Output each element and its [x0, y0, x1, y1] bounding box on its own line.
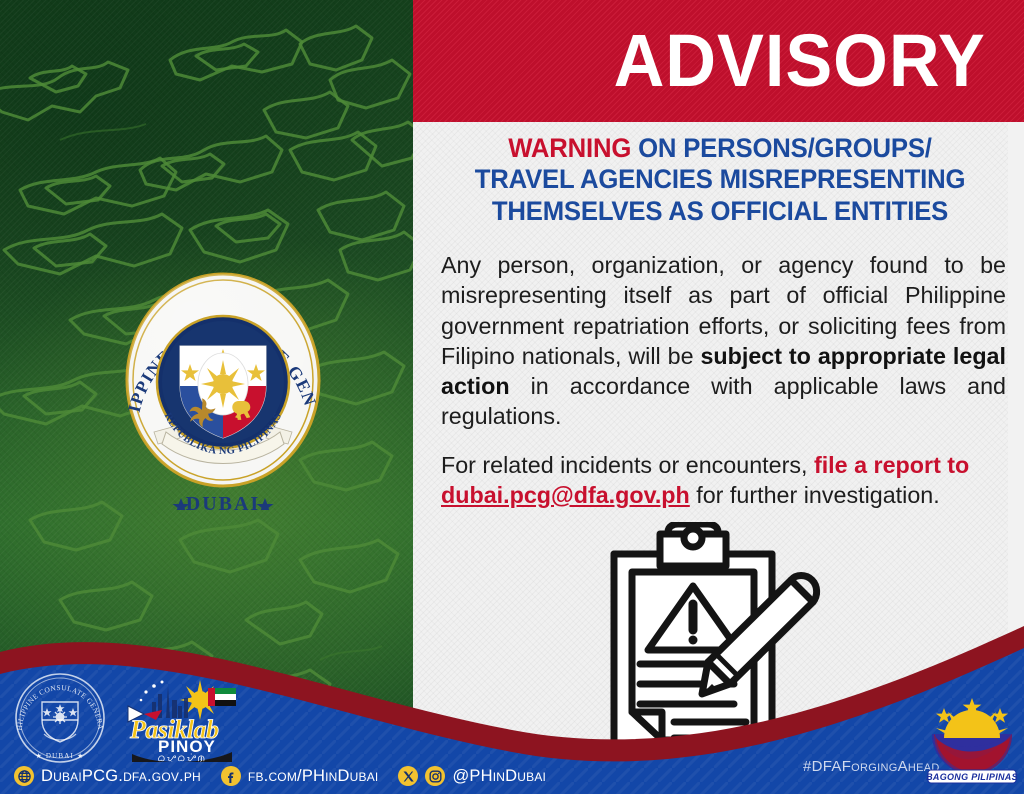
baybayin-text: ᜊᜌ᜔ᜊᜌᜒᜈ᜔ [158, 754, 207, 762]
subheading-warning-word: WARNING [508, 133, 631, 163]
body-p2-part-b: for further investigation. [690, 482, 940, 508]
subheading-line1-rest: ON PERSONS/GROUPS/ [631, 133, 932, 163]
instagram-label[interactable]: @PHinDubai [452, 767, 546, 786]
social-links-strip: DubaiPCG.dfa.gov.ph fb.com/PHinDubai @PH… [14, 766, 546, 786]
x-twitter-icon[interactable] [398, 766, 418, 786]
website-label[interactable]: DubaiPCG.dfa.gov.ph [41, 767, 201, 786]
hashtag-label: #DFAForgingAhead [803, 758, 940, 775]
body-p1-part-b: in accordance with applicable laws and r… [441, 373, 1006, 429]
globe-icon[interactable] [14, 766, 34, 786]
subheading-line3: THEMSELVES AS OFFICIAL ENTITIES [492, 196, 948, 226]
facebook-label[interactable]: fb.com/PHinDubai [248, 767, 379, 786]
philippine-consulate-general-seal: PHILIPPINE CONSULATE GENERAL [118, 260, 328, 510]
body-paragraph-2: For related incidents or encounters, fil… [441, 450, 1006, 511]
pasiklab-pinoy-logo: Pasiklab PINOY ᜊᜌ᜔ᜊᜌᜒᜈ᜔ [114, 676, 244, 762]
body-p2-red-bold: file a report to [814, 452, 969, 478]
advisory-title: ADVISORY [614, 24, 986, 98]
body-p2-part-a: For related incidents or encounters, [441, 452, 814, 478]
advisory-body-copy: Any person, organization, or agency foun… [441, 250, 1006, 510]
footer-seal-city: ★ DUBAI ★ [35, 752, 84, 760]
footer-consulate-seal: PHILIPPINE CONSULATE GENERAL ★ DUBAI ★ [14, 672, 106, 764]
body-paragraph-1: Any person, organization, or agency foun… [441, 250, 1006, 432]
subheading-line2: TRAVEL AGENCIES MISREPRESENTING [475, 164, 966, 194]
report-email-link[interactable]: dubai.pcg@dfa.gov.ph [441, 482, 690, 508]
facebook-icon[interactable] [221, 766, 241, 786]
advisory-poster: PHILIPPINE CONSULATE GENERAL [0, 0, 1024, 794]
advisory-title-band: ADVISORY [413, 0, 1024, 122]
seal-city-label: DUBAI [186, 493, 260, 510]
bagong-pilipinas-label: BAGONG PILIPINAS [926, 772, 1018, 782]
advisory-subheading: WARNING ON PERSONS/GROUPS/ TRAVEL AGENCI… [434, 133, 1006, 227]
instagram-icon[interactable] [425, 766, 445, 786]
bagong-pilipinas-logo: BAGONG PILIPINAS [922, 694, 1022, 786]
